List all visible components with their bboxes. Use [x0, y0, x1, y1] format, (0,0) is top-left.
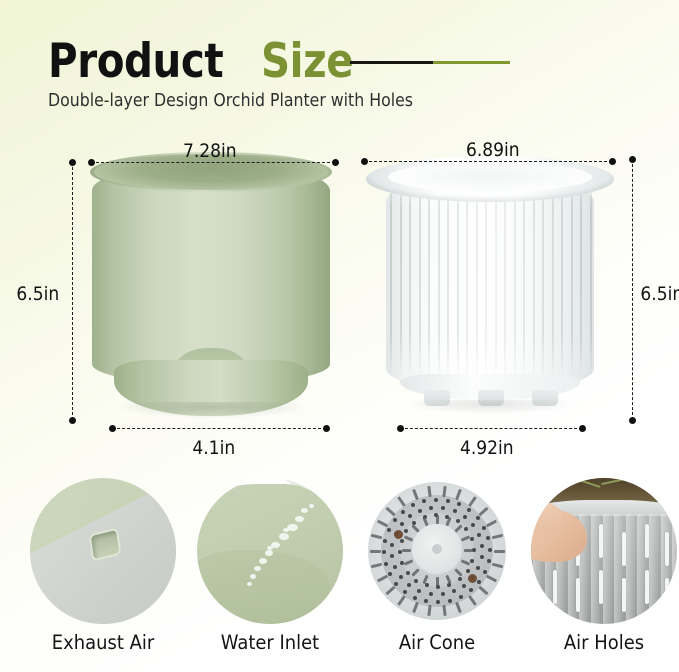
inner-planter-rib	[428, 178, 430, 380]
planter-shadow	[120, 402, 304, 418]
cone-drain-hole	[400, 522, 404, 526]
cone-drain-hole	[480, 555, 484, 559]
water-droplet	[283, 528, 289, 532]
dimension-line-height-left	[72, 162, 73, 420]
air-slot	[599, 524, 603, 558]
dimension-endpoint	[629, 417, 636, 424]
inner-planter-rim-opening	[388, 162, 592, 192]
dimension-endpoint	[629, 156, 636, 163]
dimension-label-top-diameter-inner: 6.89in	[466, 139, 520, 161]
water-droplet	[309, 504, 314, 508]
cone-vent-tick	[436, 515, 439, 524]
cone-drain-hole	[400, 539, 404, 543]
pot-rib	[626, 514, 635, 624]
dimension-endpoint	[579, 425, 586, 432]
cone-drain-hole	[466, 569, 470, 573]
cone-drain-hole	[441, 506, 445, 510]
air-slot	[665, 532, 669, 566]
inner-planter-rib	[447, 177, 449, 381]
inner-planter-rib	[552, 178, 554, 380]
dimension-endpoint	[397, 425, 404, 432]
cone-vent-tick	[436, 577, 439, 586]
air-slot	[553, 570, 557, 604]
feature-label: Air Holes	[530, 631, 677, 654]
dimension-label-bottom-diameter-outer: 4.1in	[192, 437, 235, 459]
dimension-endpoint	[323, 425, 330, 432]
cone-vent-tick	[494, 550, 505, 553]
air-slot	[576, 578, 580, 612]
air-slot	[665, 578, 669, 612]
dimension-endpoint	[69, 159, 76, 166]
cone-vent-tick	[402, 549, 411, 552]
inner-planter-rib	[542, 177, 544, 380]
dimension-label-bottom-diameter-inner: 4.92in	[460, 437, 514, 459]
inner-planter-rib	[409, 179, 411, 378]
clear-inner-planter-image	[366, 150, 616, 422]
cone-vent-tick	[370, 550, 381, 553]
inner-planter-rib	[571, 179, 573, 378]
water-droplet	[267, 546, 273, 550]
inner-planter-rib	[476, 176, 478, 382]
dimension-label-top-diameter-outer: 7.28in	[183, 140, 237, 162]
cone-drain-hole	[470, 537, 474, 541]
feature-air-cone: Air Cone	[357, 478, 517, 654]
dimension-endpoint	[109, 425, 116, 432]
inner-planter-rib	[438, 177, 440, 380]
water-inlet-icon	[197, 478, 343, 624]
cone-drain-hole	[446, 499, 450, 503]
cone-soil-speck	[468, 574, 477, 583]
cone-drain-hole	[413, 596, 417, 600]
water-droplet	[259, 558, 267, 564]
cone-drain-hole	[482, 526, 486, 530]
inner-planter-rib	[590, 180, 592, 376]
water-droplet	[279, 533, 289, 540]
inner-planter-rib	[457, 177, 459, 382]
cone-drain-hole	[434, 498, 438, 502]
cone-drain-hole	[448, 599, 452, 603]
pot-rib	[672, 514, 677, 624]
dimension-line-top-left	[91, 162, 335, 163]
cone-drain-hole	[393, 518, 397, 522]
cone-drain-hole	[403, 590, 407, 594]
cone-drain-hole	[453, 509, 457, 513]
dimension-endpoint	[88, 159, 95, 166]
inner-planter-rib	[523, 177, 525, 382]
cone-drain-hole	[418, 509, 422, 513]
inner-planter-rib	[485, 176, 487, 382]
cone-drain-hole	[406, 571, 410, 575]
air-slot	[599, 570, 603, 604]
air-holes-icon	[531, 478, 677, 624]
product-size-infographic: Product Size Double-layer Design Orchid …	[0, 0, 679, 672]
dimension-endpoint	[332, 159, 339, 166]
dimension-label-height-inner: 6.5in	[640, 283, 679, 305]
cone-drain-hole	[384, 562, 388, 566]
dimension-endpoint	[609, 158, 616, 165]
exhaust-air-icon	[30, 478, 176, 624]
water-droplet	[247, 582, 252, 586]
dimension-label-height-outer: 6.5in	[16, 283, 59, 305]
cone-drain-hole	[471, 523, 475, 527]
cone-drain-hole	[480, 544, 484, 548]
cone-drain-hole	[414, 579, 418, 583]
feature-row: Exhaust Air Water Inlet Air Cone	[0, 478, 679, 672]
cone-drain-hole	[467, 508, 471, 512]
feature-label: Water Inlet	[196, 631, 343, 654]
water-droplet	[295, 516, 304, 522]
cone-drain-hole	[383, 539, 387, 543]
dimension-line-top-right	[364, 161, 612, 162]
cone-drain-hole	[476, 516, 480, 520]
cone-drain-hole	[459, 595, 463, 599]
air-slot	[622, 532, 626, 566]
inner-planter-rib	[504, 176, 506, 382]
cone-drain-hole	[387, 528, 391, 532]
cone-drain-hole	[457, 502, 461, 506]
dimension-line-height-right	[632, 159, 633, 420]
water-droplet	[254, 566, 261, 571]
air-slot	[645, 570, 649, 604]
feature-water-inlet: Water Inlet	[190, 478, 350, 654]
cone-drain-hole	[488, 548, 492, 552]
inner-planter-rib	[390, 180, 392, 376]
air-cone-icon	[364, 478, 510, 624]
inner-planter-rib	[419, 178, 421, 378]
dimension-endpoint	[361, 158, 368, 165]
inner-planter-rib	[466, 176, 468, 381]
cone-drain-hole	[401, 510, 405, 514]
air-slot	[645, 524, 649, 558]
dimension-line-bottom-left	[112, 428, 326, 429]
feature-exhaust-air: Exhaust Air	[23, 478, 183, 654]
feature-label: Exhaust Air	[29, 631, 176, 654]
pot-rib	[603, 514, 612, 624]
green-outer-planter-image	[84, 152, 338, 420]
product-illustration-area: 7.28in 6.5in 4.1in 6.89in 6.5in 4.92in	[0, 0, 679, 470]
cone-vent-tick	[464, 549, 473, 552]
inner-planter-shadow	[406, 400, 576, 414]
dimension-line-bottom-right	[400, 428, 582, 429]
cone-drain-hole	[462, 584, 466, 588]
inner-planter-rib	[400, 179, 402, 376]
inner-planter-rib	[514, 176, 516, 381]
cone-nub	[432, 544, 442, 554]
cone-drain-hole	[441, 592, 445, 596]
cone-soil-speck	[394, 530, 403, 539]
inner-planter-rib	[495, 176, 497, 382]
feature-air-holes: Air Holes	[524, 478, 679, 654]
inner-planter-rib	[561, 178, 563, 378]
inner-planter-rib	[533, 177, 535, 381]
water-droplet	[301, 508, 308, 513]
inner-planter-rib	[580, 179, 582, 376]
pot-rib	[649, 514, 658, 624]
feature-label: Air Cone	[363, 631, 510, 654]
cone-drain-hole	[463, 515, 467, 519]
water-droplet	[250, 574, 256, 579]
cone-drain-hole	[477, 533, 481, 537]
air-slot	[622, 578, 626, 612]
water-droplet	[265, 550, 273, 556]
dimension-endpoint	[69, 417, 76, 424]
